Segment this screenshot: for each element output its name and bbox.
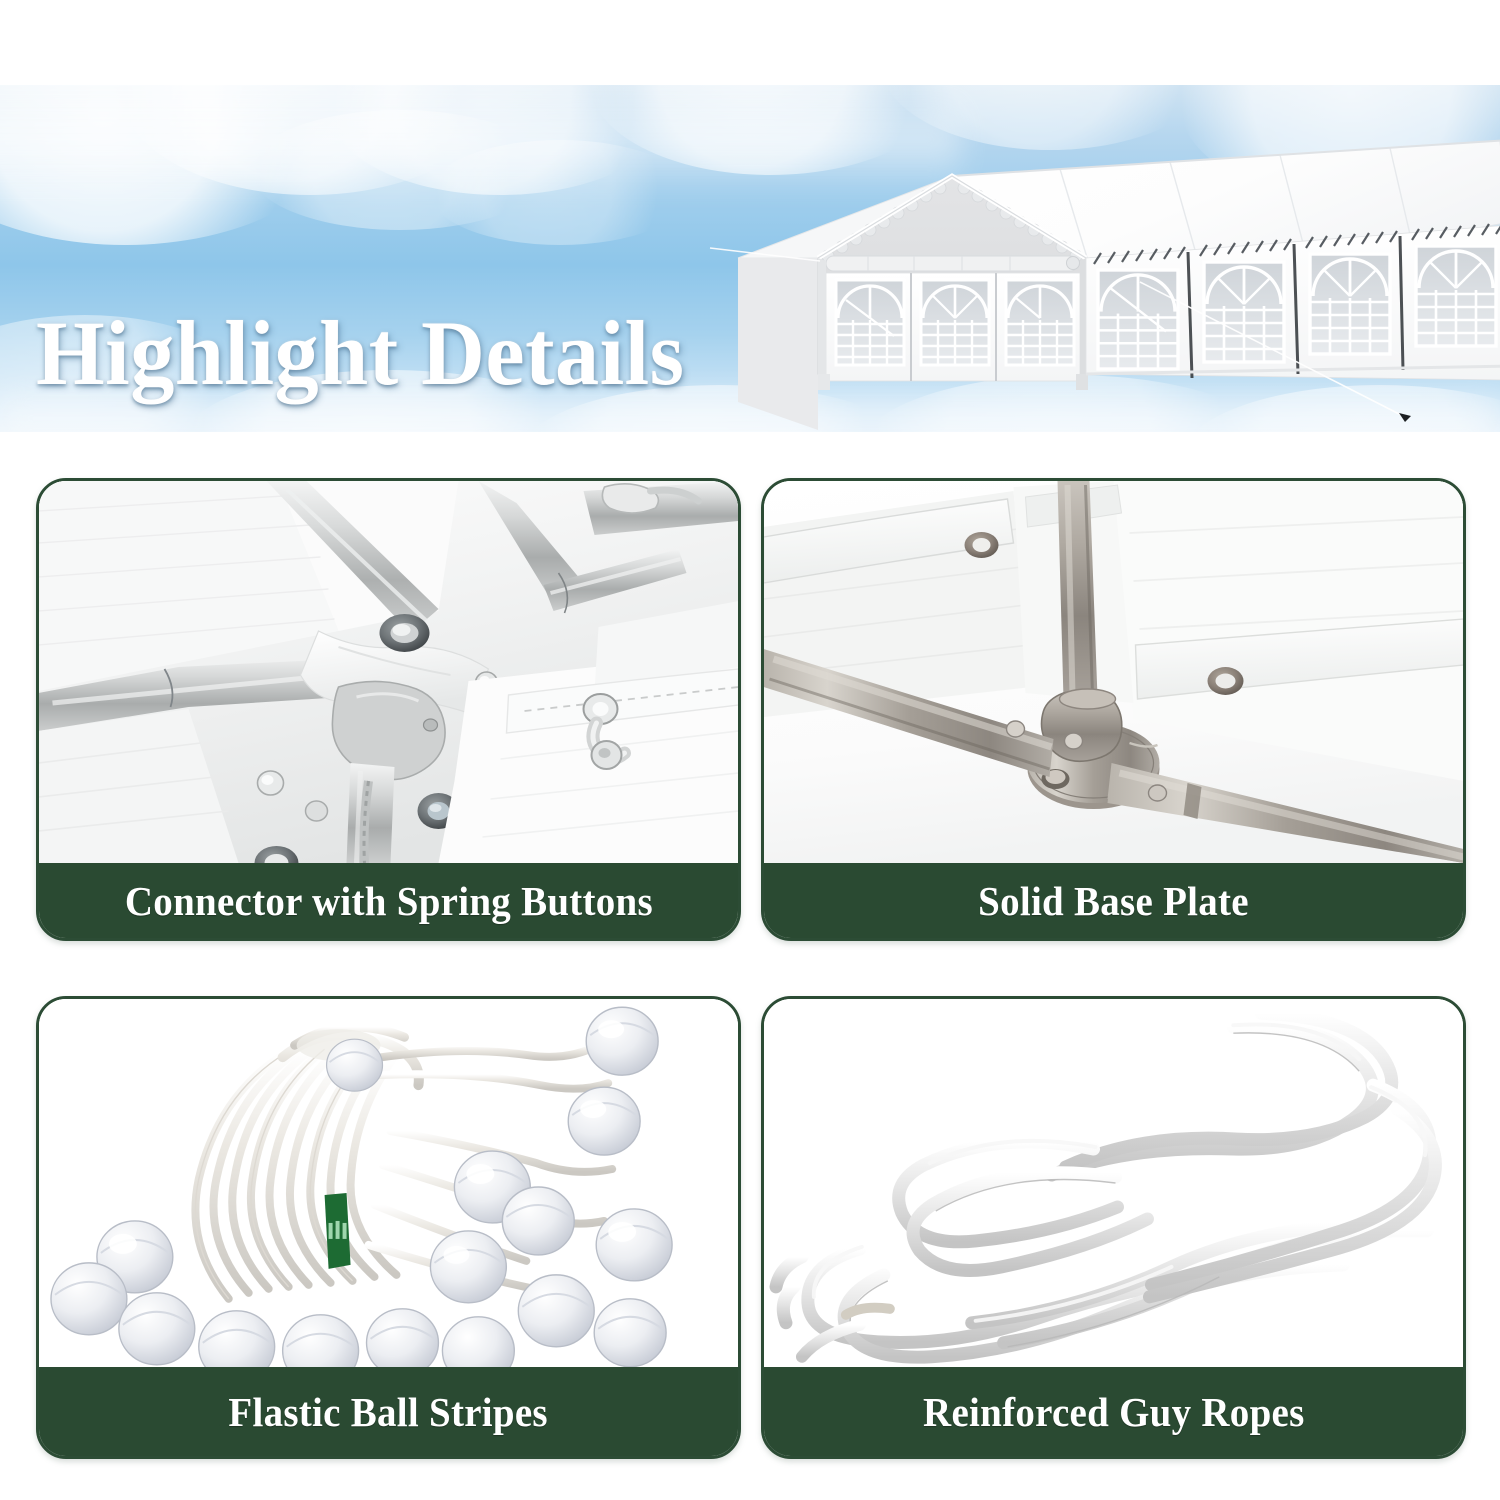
- highlight-card-base-plate[interactable]: Solid Base Plate: [761, 478, 1466, 941]
- cloud-shape: [0, 85, 340, 245]
- cloud-shape: [330, 85, 670, 195]
- card-caption-ball-stripes: Flastic Ball Stripes: [39, 1367, 738, 1456]
- highlight-card-guy-ropes[interactable]: Reinforced Guy Ropes: [761, 996, 1466, 1459]
- card-caption-connector: Connector with Spring Buttons: [39, 863, 738, 938]
- highlight-card-connector[interactable]: Connector with Spring Buttons: [36, 478, 741, 941]
- highlight-details-page: Highlight Details: [0, 0, 1500, 1500]
- card-caption-text: Connector with Spring Buttons: [124, 877, 652, 925]
- highlight-card-ball-stripes[interactable]: Flastic Ball Stripes: [36, 996, 741, 1459]
- cloud-shape: [120, 85, 500, 195]
- card-caption-text: Solid Base Plate: [978, 877, 1249, 925]
- guy-ropes-photo: [764, 999, 1463, 1367]
- page-title: Highlight Details: [36, 307, 685, 399]
- bungee-ball-cords-photo: [39, 999, 738, 1367]
- tent-corner-connector-photo: [39, 481, 738, 863]
- highlight-card-grid: Connector with Spring Buttons: [36, 478, 1466, 1463]
- cloud-shape: [430, 140, 690, 245]
- tent-illustration: [700, 130, 1500, 430]
- card-caption-text: Flastic Ball Stripes: [229, 1388, 548, 1436]
- tent-base-plate-photo: [764, 481, 1463, 863]
- card-caption-base-plate: Solid Base Plate: [764, 863, 1463, 938]
- card-caption-guy-ropes: Reinforced Guy Ropes: [764, 1367, 1463, 1456]
- header-banner: Highlight Details: [0, 85, 1500, 432]
- cloud-shape: [250, 110, 550, 230]
- card-caption-text: Reinforced Guy Ropes: [923, 1388, 1304, 1436]
